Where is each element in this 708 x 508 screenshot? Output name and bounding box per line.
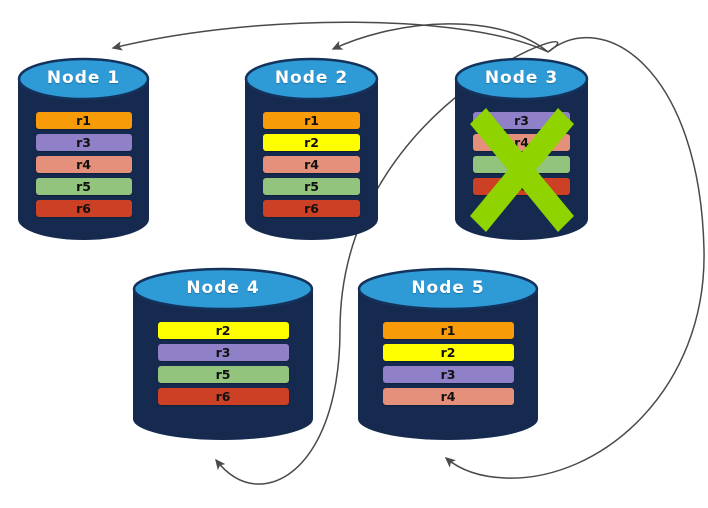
node-4-replica-r6[interactable]: r6 <box>158 388 289 405</box>
node-2-replica-r2[interactable]: r2 <box>263 134 360 151</box>
node-1[interactable]: Node 1r1r3r4r5r6 <box>18 58 149 240</box>
node-3-replica-r6[interactable]: r6 <box>473 178 570 195</box>
node-5-replica-r3[interactable]: r3 <box>383 366 514 383</box>
node-3-replica-list: r3r4r5r6 <box>455 112 588 195</box>
node-2[interactable]: Node 2r1r2r4r5r6 <box>245 58 378 240</box>
node-3-top-ellipse <box>456 59 587 99</box>
node-1-replica-r3[interactable]: r3 <box>36 134 132 151</box>
node-1-replica-list: r1r3r4r5r6 <box>18 112 149 217</box>
edge-node3-to-node2 <box>333 24 548 52</box>
node-4[interactable]: Node 4r2r3r5r6 <box>133 268 313 440</box>
node-2-top-ellipse <box>246 59 377 99</box>
node-2-replica-r5[interactable]: r5 <box>263 178 360 195</box>
node-5-replica-r2[interactable]: r2 <box>383 344 514 361</box>
node-1-replica-r4[interactable]: r4 <box>36 156 132 173</box>
diagram-canvas: Node 1r1r3r4r5r6Node 2r1r2r4r5r6Node 3r3… <box>0 0 708 508</box>
node-4-replica-r3[interactable]: r3 <box>158 344 289 361</box>
node-1-top-ellipse <box>19 59 148 99</box>
node-5-replica-r4[interactable]: r4 <box>383 388 514 405</box>
node-4-replica-list: r2r3r5r6 <box>133 322 313 405</box>
node-3-replica-r5[interactable]: r5 <box>473 156 570 173</box>
node-2-replica-list: r1r2r4r5r6 <box>245 112 378 217</box>
node-1-replica-r5[interactable]: r5 <box>36 178 132 195</box>
node-2-replica-r1[interactable]: r1 <box>263 112 360 129</box>
node-3[interactable]: Node 3r3r4r5r6 <box>455 58 588 240</box>
node-2-replica-r6[interactable]: r6 <box>263 200 360 217</box>
node-3-replica-r4[interactable]: r4 <box>473 134 570 151</box>
node-5-top-ellipse <box>359 269 537 309</box>
node-5[interactable]: Node 5r1r2r3r4 <box>358 268 538 440</box>
node-4-top-ellipse <box>134 269 312 309</box>
node-1-replica-r6[interactable]: r6 <box>36 200 132 217</box>
node-5-replica-r1[interactable]: r1 <box>383 322 514 339</box>
node-4-replica-r5[interactable]: r5 <box>158 366 289 383</box>
node-3-replica-r3[interactable]: r3 <box>473 112 570 129</box>
node-4-replica-r2[interactable]: r2 <box>158 322 289 339</box>
node-5-replica-list: r1r2r3r4 <box>358 322 538 405</box>
node-1-replica-r1[interactable]: r1 <box>36 112 132 129</box>
node-2-replica-r4[interactable]: r4 <box>263 156 360 173</box>
